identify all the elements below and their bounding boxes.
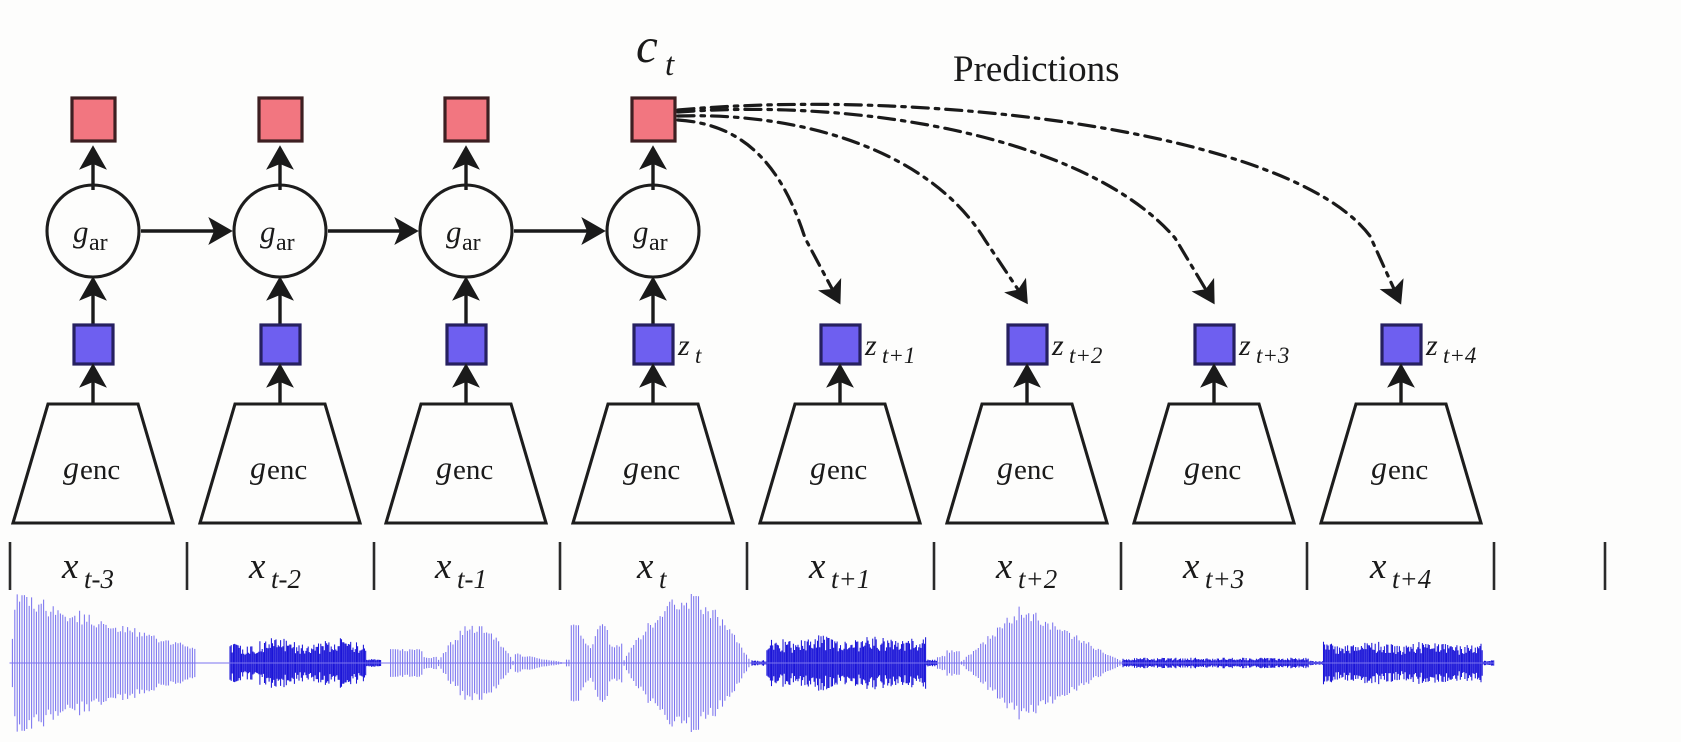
- enc-label-base-4: g: [623, 449, 639, 485]
- enc-label-sub-7: enc: [1201, 454, 1241, 486]
- latent-label-sub-t1: t+1: [882, 343, 915, 368]
- input-label-base-6: x: [995, 546, 1013, 587]
- input-label-sub-4: t: [659, 564, 668, 594]
- input-label-t-1: x t-1: [434, 546, 487, 594]
- audio-waveform: [10, 594, 1494, 732]
- context-title-subscript: t: [665, 47, 675, 83]
- ar-label-base-3: g: [446, 214, 462, 249]
- prediction-arrow-t-plus-2: [678, 116, 1025, 300]
- input-label-base-7: x: [1182, 546, 1200, 587]
- autoregressor-node-2[interactable]: g ar: [234, 185, 326, 277]
- prediction-arrow-t-plus-3: [678, 109, 1212, 300]
- latent-label-base-t4: z: [1425, 329, 1438, 362]
- enc-label-sub-2: enc: [267, 454, 307, 486]
- latent-label-sub-t4: t+4: [1443, 343, 1476, 368]
- input-label-sub-7: t+3: [1205, 564, 1244, 594]
- encoder-node-5[interactable]: g enc: [760, 404, 920, 523]
- autoregressor-node-4[interactable]: g ar: [607, 185, 699, 277]
- latent-label-t-plus-4: z t+4: [1425, 329, 1476, 368]
- ar-label-base-1: g: [73, 214, 89, 249]
- latent-box-t-3[interactable]: [74, 325, 113, 364]
- latent-label-sub-t: t: [695, 343, 702, 368]
- latent-boxes-group: [74, 325, 1421, 364]
- latent-label-sub-t3: t+3: [1256, 343, 1289, 368]
- latent-label-t-plus-1: z t+1: [864, 329, 915, 368]
- enc-label-base-1: g: [63, 449, 79, 485]
- latent-label-base-t2: z: [1051, 329, 1064, 362]
- prediction-arrow-t-plus-1: [678, 120, 838, 300]
- latent-label-base-t3: z: [1238, 329, 1251, 362]
- context-box-t-2[interactable]: [259, 98, 302, 141]
- latent-label-t: z t: [677, 329, 702, 368]
- context-boxes-group: [72, 98, 675, 141]
- latent-box-t-plus-2[interactable]: [1008, 325, 1047, 364]
- input-label-sub-5: t+1: [831, 564, 870, 594]
- encoder-to-latent-arrows: [93, 368, 1401, 404]
- latent-box-t-1[interactable]: [447, 325, 486, 364]
- prediction-arrows-group: [678, 104, 1399, 300]
- input-label-base-4: x: [636, 546, 654, 587]
- input-label-sub-1: t-3: [84, 564, 114, 594]
- encoder-node-6[interactable]: g enc: [947, 404, 1107, 523]
- input-label-t-2: x t-2: [248, 546, 301, 594]
- input-label-sub-3: t-1: [457, 564, 487, 594]
- input-label-base-2: x: [248, 546, 266, 587]
- enc-label-sub-4: enc: [640, 454, 680, 486]
- latent-label-sub-t2: t+2: [1069, 343, 1102, 368]
- input-label-t: x t: [636, 546, 668, 594]
- input-label-t-3: x t-3: [61, 546, 114, 594]
- enc-label-sub-1: enc: [80, 454, 120, 486]
- latent-label-t-plus-3: z t+3: [1238, 329, 1289, 368]
- enc-label-sub-5: enc: [827, 454, 867, 486]
- ar-label-sub-4: ar: [649, 230, 668, 256]
- input-label-base-5: x: [808, 546, 826, 587]
- enc-label-base-2: g: [250, 449, 266, 485]
- encoder-group: g enc g enc g enc g enc g enc: [13, 404, 1481, 523]
- encoder-node-2[interactable]: g enc: [200, 404, 360, 523]
- ar-label-sub-1: ar: [89, 230, 108, 256]
- latent-labels-group: z t z t+1 z t+2 z t+3 z t+4: [677, 329, 1476, 368]
- enc-label-base-3: g: [436, 449, 452, 485]
- latent-label-t-plus-2: z t+2: [1051, 329, 1102, 368]
- latent-box-t-plus-1[interactable]: [821, 325, 860, 364]
- latent-box-t-plus-3[interactable]: [1195, 325, 1234, 364]
- latent-to-ar-arrows: [93, 281, 653, 325]
- context-box-t-3[interactable]: [72, 98, 115, 141]
- encoder-node-3[interactable]: g enc: [386, 404, 546, 523]
- prediction-arrow-t-plus-4: [678, 104, 1399, 300]
- context-vector-title: c t: [636, 18, 675, 83]
- encoder-node-8[interactable]: g enc: [1321, 404, 1481, 523]
- enc-label-sub-3: enc: [453, 454, 493, 486]
- ar-label-sub-3: ar: [462, 230, 481, 256]
- context-box-t[interactable]: [632, 98, 675, 141]
- ar-to-context-arrows: [93, 150, 653, 190]
- input-label-base-3: x: [434, 546, 452, 587]
- autoregressor-node-3[interactable]: g ar: [420, 185, 512, 277]
- ar-label-base-4: g: [633, 214, 649, 249]
- input-label-base-1: x: [61, 546, 79, 587]
- input-label-sub-2: t-2: [271, 564, 301, 594]
- latent-label-base-t: z: [677, 329, 690, 362]
- diagram-canvas: c t Predictions: [0, 0, 1681, 742]
- encoder-node-1[interactable]: g enc: [13, 404, 173, 523]
- context-box-t-1[interactable]: [445, 98, 488, 141]
- cpc-architecture-svg: c t Predictions: [0, 0, 1681, 742]
- enc-label-base-7: g: [1184, 449, 1200, 485]
- latent-box-t[interactable]: [634, 325, 673, 364]
- encoder-node-7[interactable]: g enc: [1134, 404, 1294, 523]
- enc-label-base-5: g: [810, 449, 826, 485]
- input-label-sub-8: t+4: [1392, 564, 1431, 594]
- latent-box-t-plus-4[interactable]: [1382, 325, 1421, 364]
- input-label-t-plus-1: x t+1: [808, 546, 870, 594]
- enc-label-sub-6: enc: [1014, 454, 1054, 486]
- enc-label-sub-8: enc: [1388, 454, 1428, 486]
- input-label-t-plus-4: x t+4: [1369, 546, 1431, 594]
- autoregressor-node-1[interactable]: g ar: [47, 185, 139, 277]
- ar-label-base-2: g: [260, 214, 276, 249]
- predictions-label: Predictions: [953, 49, 1119, 90]
- input-label-base-8: x: [1369, 546, 1387, 587]
- input-label-t-plus-2: x t+2: [995, 546, 1057, 594]
- input-label-t-plus-3: x t+3: [1182, 546, 1244, 594]
- input-label-sub-6: t+2: [1018, 564, 1057, 594]
- latent-box-t-2[interactable]: [261, 325, 300, 364]
- latent-label-base-t1: z: [864, 329, 877, 362]
- ar-label-sub-2: ar: [276, 230, 295, 256]
- enc-label-base-6: g: [997, 449, 1013, 485]
- enc-label-base-8: g: [1371, 449, 1387, 485]
- context-title-base: c: [636, 18, 658, 73]
- encoder-node-4[interactable]: g enc: [573, 404, 733, 523]
